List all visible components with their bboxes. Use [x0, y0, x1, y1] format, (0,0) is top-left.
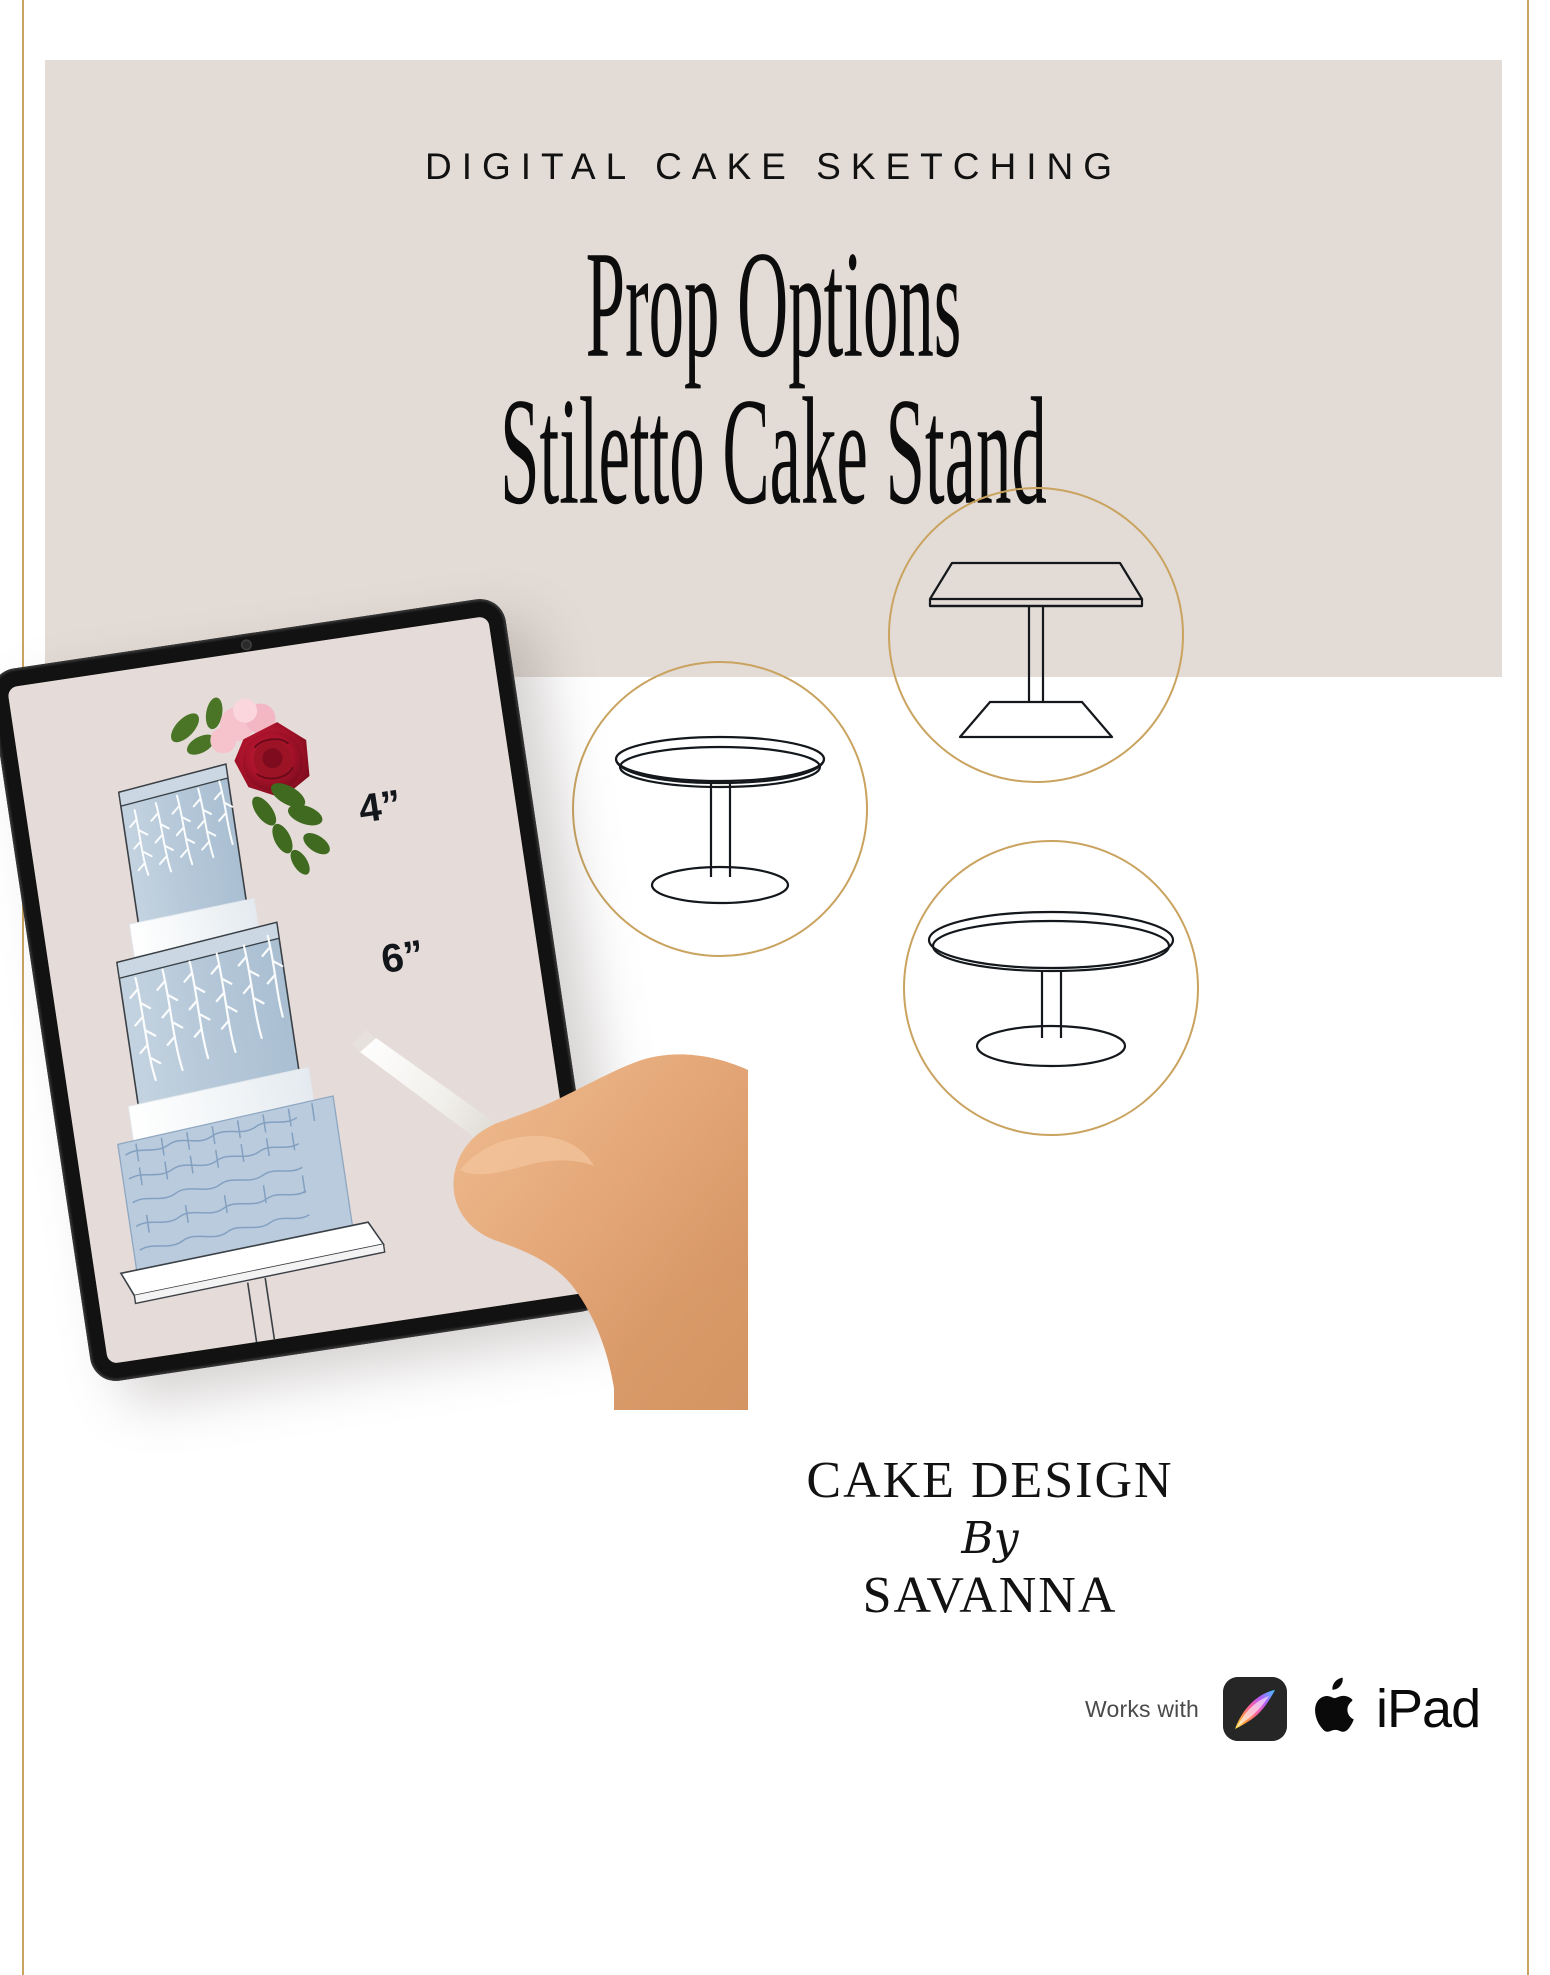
brand-line-by: By — [720, 1511, 1260, 1566]
tier-label-top: 4” — [356, 782, 404, 832]
ipad-screen[interactable]: 4” 6” — [7, 616, 589, 1364]
brand-line-savanna: SAVANNA — [720, 1570, 1260, 1622]
works-with-row: Works with — [1085, 1676, 1480, 1742]
tablet-illustration: 4” 6” — [8, 600, 748, 1410]
page-title-line-1: Prop Options — [336, 228, 1210, 381]
frame-rule-right — [1527, 0, 1529, 1975]
works-with-label: Works with — [1085, 1696, 1199, 1723]
brand-block: CAKE DESIGN By SAVANNA — [720, 1455, 1260, 1622]
tier-label-middle: 6” — [378, 932, 426, 982]
ipad-wordmark: iPad — [1376, 1682, 1480, 1736]
apple-ipad-logo: iPad — [1311, 1676, 1480, 1742]
square-cake-stand-icon — [890, 489, 1182, 781]
eyebrow-text: DIGITAL CAKE SKETCHING — [45, 146, 1502, 188]
poster-page: DIGITAL CAKE SKETCHING Prop Options Stil… — [0, 0, 1550, 1975]
front-camera-icon — [242, 640, 251, 649]
cake-sketch: 4” 6” — [7, 616, 589, 1364]
prop-option-oval-cake-stand[interactable] — [903, 840, 1199, 1136]
oval-cake-stand-icon — [905, 842, 1197, 1134]
title-panel: DIGITAL CAKE SKETCHING Prop Options Stil… — [45, 60, 1502, 677]
procreate-icon — [1223, 1677, 1287, 1741]
apple-logo-icon — [1311, 1676, 1367, 1742]
brand-line-cake-design: CAKE DESIGN — [720, 1455, 1260, 1507]
ipad-device[interactable]: 4” 6” — [0, 596, 608, 1385]
prop-option-square-cake-stand[interactable] — [888, 487, 1184, 783]
